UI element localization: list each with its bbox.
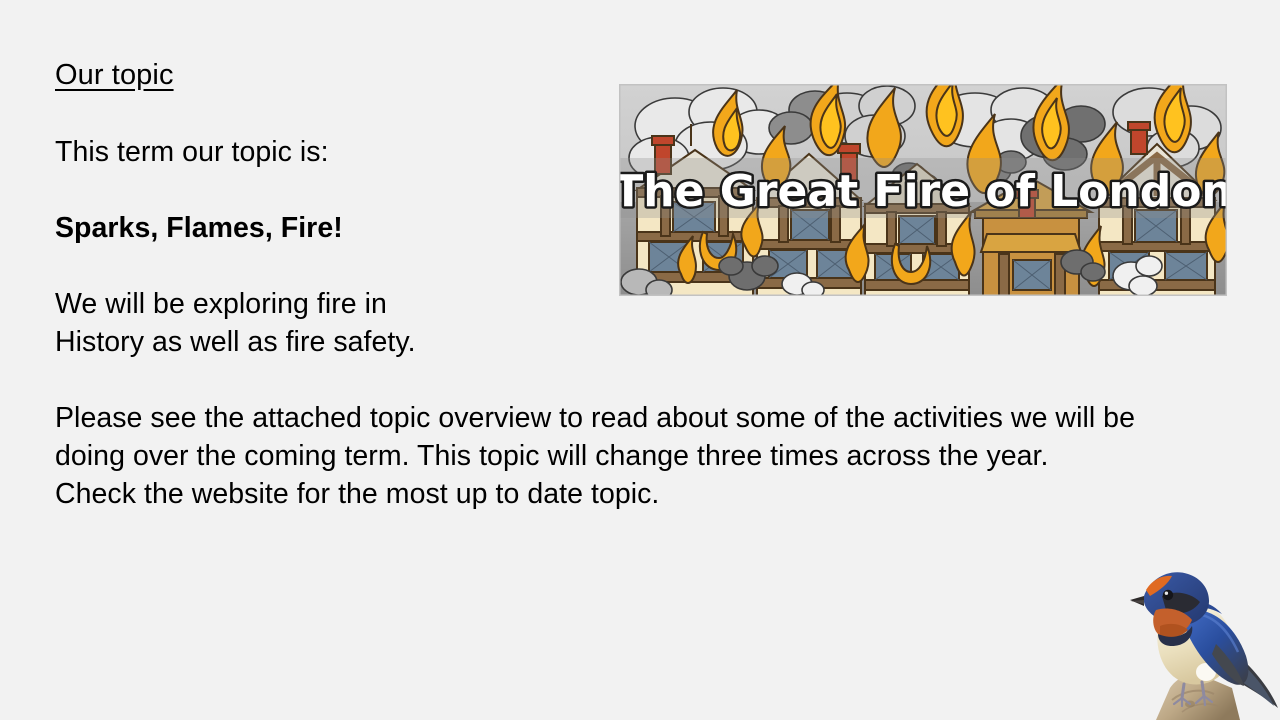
subject-lines: We will be exploring fire in History as … bbox=[55, 285, 655, 361]
barn-swallow-image bbox=[1128, 548, 1280, 720]
intro-line: This term our topic is: bbox=[55, 133, 655, 171]
slide-canvas: Our topic This term our topic is: Sparks… bbox=[0, 0, 1280, 720]
topic-banner-image: The Great Fire of London bbox=[619, 84, 1227, 296]
page-title: Our topic bbox=[55, 56, 174, 94]
banner-title-text: The Great Fire of London bbox=[619, 166, 1227, 217]
body-lines: Please see the attached topic overview t… bbox=[55, 399, 1215, 513]
topic-name: Sparks, Flames, Fire! bbox=[55, 209, 655, 247]
spacer bbox=[55, 361, 1205, 399]
